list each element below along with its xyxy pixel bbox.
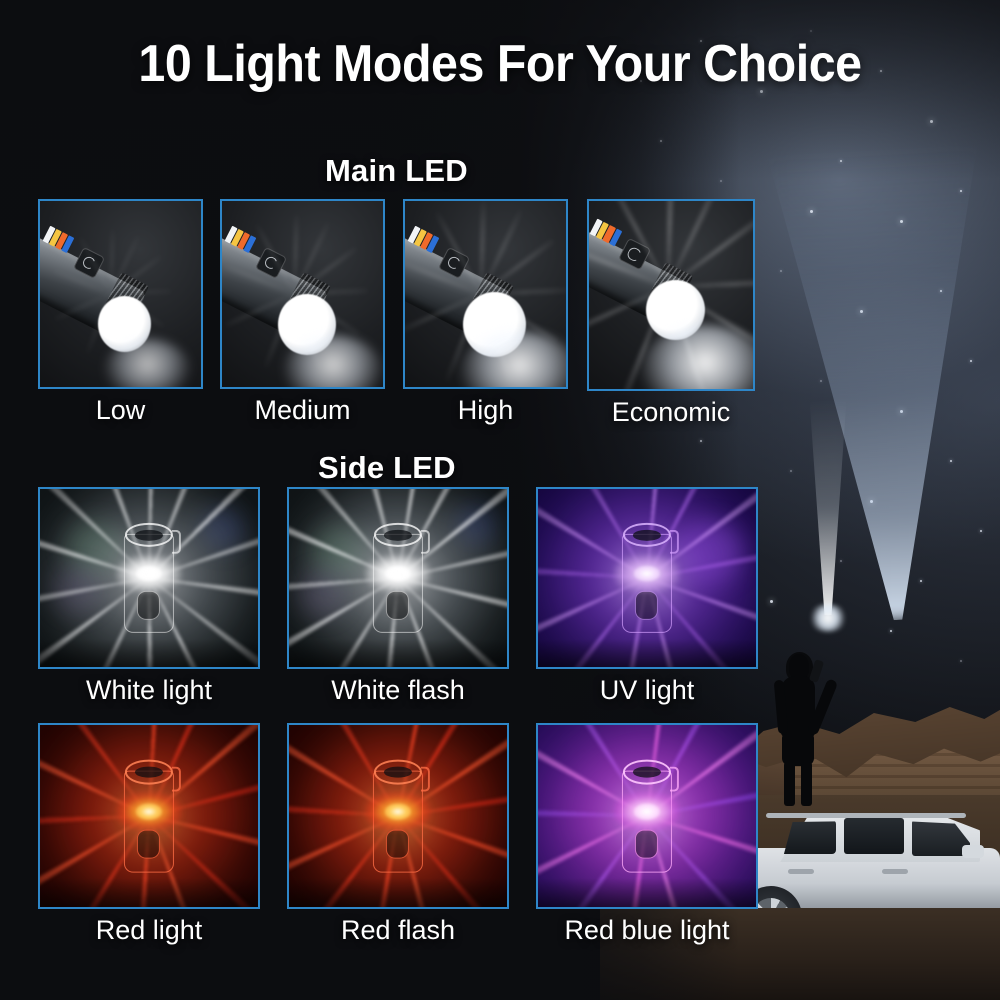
mode-thumbnail-economic[interactable] xyxy=(587,199,755,391)
lantern-clip xyxy=(670,766,679,791)
scene-floor xyxy=(289,878,507,907)
mode-label-uv-light: UV light xyxy=(600,675,695,706)
lantern-clip xyxy=(172,529,181,553)
lantern-slot xyxy=(635,830,658,859)
side-led-scene xyxy=(538,489,756,667)
lantern-body xyxy=(622,523,672,633)
lantern-cap xyxy=(125,760,173,785)
lantern-slot xyxy=(137,830,160,859)
scene-floor xyxy=(538,878,756,907)
led-hotspot xyxy=(634,804,660,820)
lantern-cap xyxy=(623,760,671,785)
mode-label-red-flash: Red flash xyxy=(341,915,455,946)
lantern-body xyxy=(373,523,423,633)
lantern-cap xyxy=(374,760,422,785)
mode-thumbnail-red-blue-light[interactable] xyxy=(536,723,758,909)
mode-card-red-blue-light[interactable]: Red blue light xyxy=(536,723,758,909)
mode-thumbnail-uv-light[interactable] xyxy=(536,487,758,669)
main-led-scene xyxy=(222,201,383,387)
lantern-slot xyxy=(137,591,160,620)
mode-card-low[interactable]: Low xyxy=(38,199,203,389)
page-title: 10 Light Modes For Your Choice xyxy=(35,34,965,94)
led-hotspot xyxy=(136,804,162,820)
mode-label-medium: Medium xyxy=(254,395,350,426)
mode-label-high: High xyxy=(458,395,514,426)
mode-thumbnail-red-light[interactable] xyxy=(38,723,260,909)
scene-floor xyxy=(289,639,507,667)
mode-thumbnail-white-light[interactable] xyxy=(38,487,260,669)
mode-label-low: Low xyxy=(96,395,146,426)
beam-spill xyxy=(104,339,191,389)
lantern-clip xyxy=(421,766,430,791)
section-heading-side-led: Side LED xyxy=(318,450,456,486)
side-led-scene xyxy=(40,725,258,907)
lantern-clip xyxy=(421,529,430,553)
mode-label-economic: Economic xyxy=(612,397,731,428)
side-led-scene xyxy=(289,489,507,667)
lantern-body xyxy=(124,523,174,633)
mode-label-red-light: Red light xyxy=(96,915,203,946)
lantern-clip xyxy=(172,766,181,791)
section-heading-main-led: Main LED xyxy=(325,153,468,189)
side-led-scene xyxy=(538,725,756,907)
side-led-scene xyxy=(289,725,507,907)
mode-thumbnail-low[interactable] xyxy=(38,199,203,389)
lantern-body xyxy=(373,760,423,873)
mode-card-high[interactable]: High xyxy=(403,199,568,389)
mode-card-red-light[interactable]: Red light xyxy=(38,723,260,909)
mode-label-white-light: White light xyxy=(86,675,212,706)
mode-card-uv-light[interactable]: UV light xyxy=(536,487,758,669)
mode-card-white-flash[interactable]: White flash xyxy=(287,487,509,669)
mode-thumbnail-red-flash[interactable] xyxy=(287,723,509,909)
product-infographic: 10 Light Modes For Your Choice Main LED … xyxy=(0,0,1000,1000)
mode-label-white-flash: White flash xyxy=(331,675,465,706)
mode-card-red-flash[interactable]: Red flash xyxy=(287,723,509,909)
lantern-clip xyxy=(670,529,679,553)
mode-thumbnail-medium[interactable] xyxy=(220,199,385,389)
main-led-scene xyxy=(40,201,201,387)
main-led-scene xyxy=(405,201,566,387)
scene-floor xyxy=(40,878,258,907)
mode-thumbnail-white-flash[interactable] xyxy=(287,487,509,669)
lantern-body xyxy=(622,760,672,873)
lantern-slot xyxy=(386,591,409,620)
main-led-scene xyxy=(589,201,753,389)
mode-thumbnail-high[interactable] xyxy=(403,199,568,389)
mode-card-white-light[interactable]: White light xyxy=(38,487,260,669)
mode-card-medium[interactable]: Medium xyxy=(220,199,385,389)
lantern-slot xyxy=(635,591,658,620)
scene-floor xyxy=(40,639,258,667)
led-hotspot xyxy=(385,804,411,820)
scene-floor xyxy=(538,639,756,667)
lantern-body xyxy=(124,760,174,873)
mode-card-economic[interactable]: Economic xyxy=(587,199,755,391)
mode-label-red-blue-light: Red blue light xyxy=(564,915,729,946)
lantern-slot xyxy=(386,830,409,859)
infographic-content: 10 Light Modes For Your Choice Main LED … xyxy=(0,0,1000,1000)
side-led-scene xyxy=(40,489,258,667)
